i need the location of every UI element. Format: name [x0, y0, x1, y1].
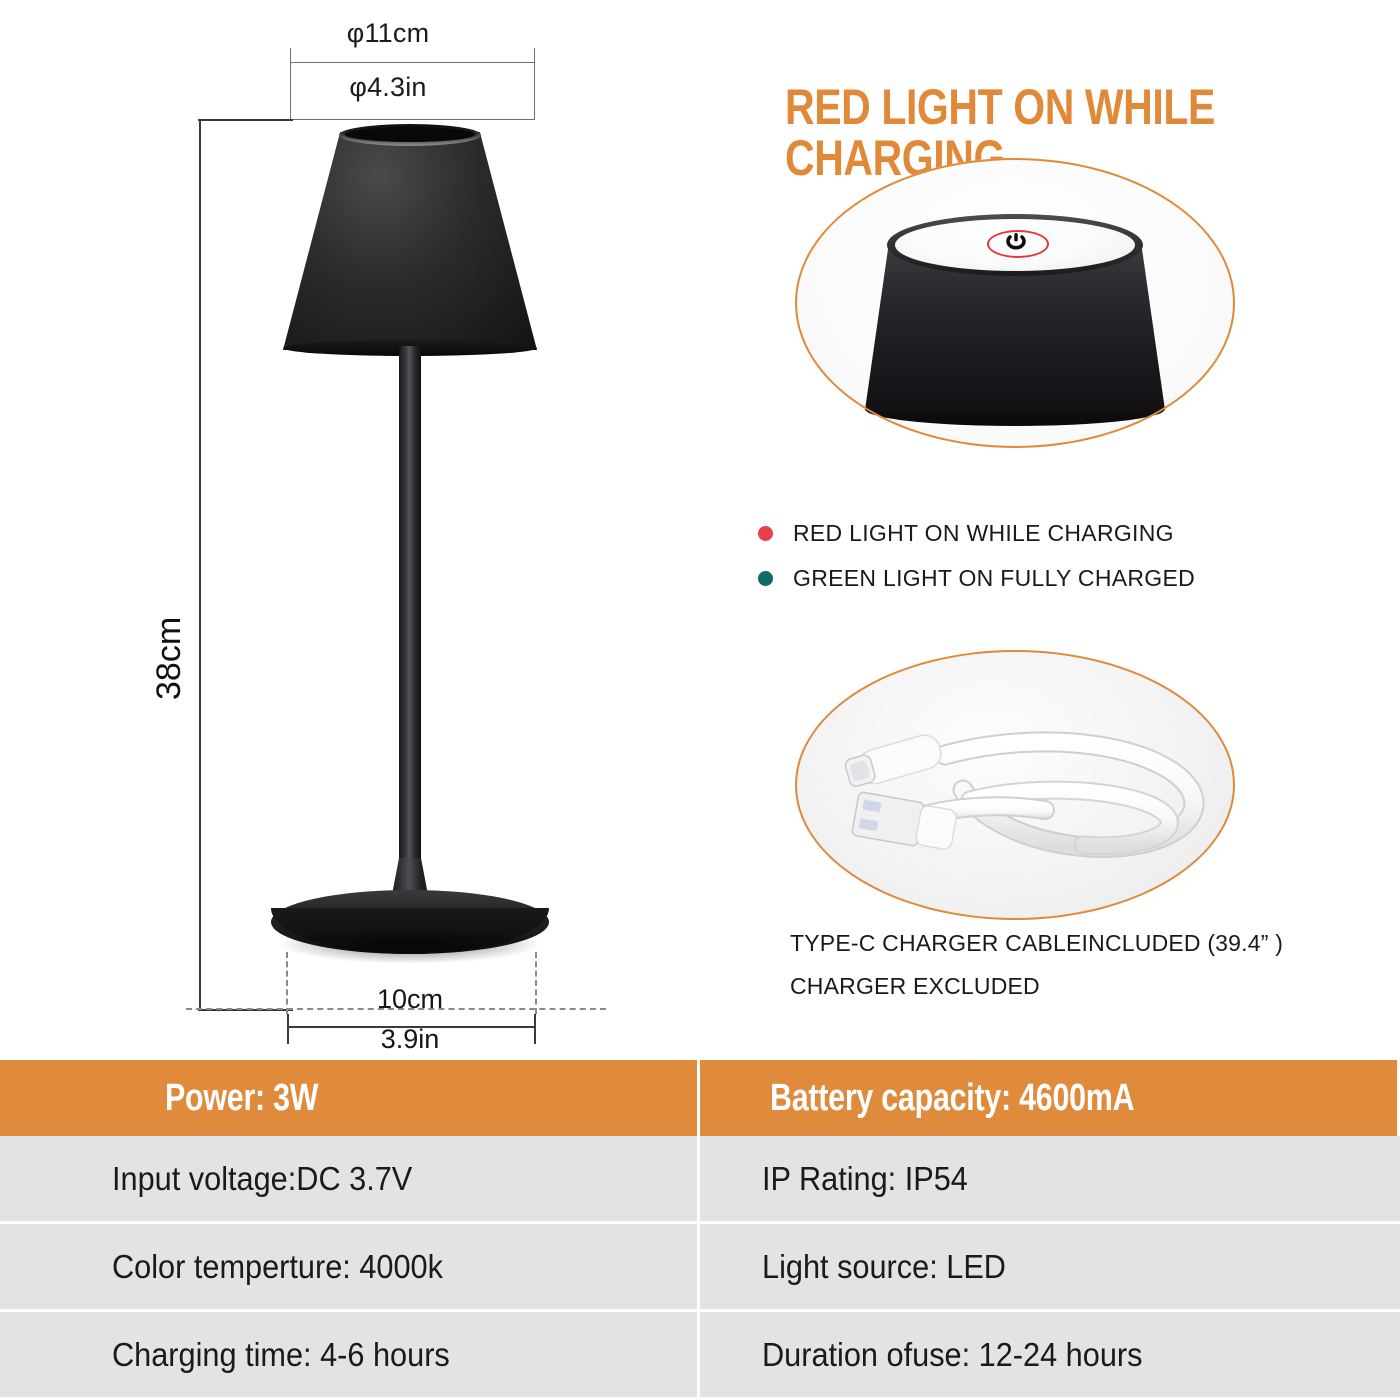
green-led-dot-icon	[758, 571, 773, 586]
lamp-base-shadow	[277, 930, 543, 964]
led-status-list: RED LIGHT ON WHILE CHARGING GREEN LIGHT …	[758, 520, 1378, 610]
height-measure-line	[199, 119, 201, 1011]
cable-caption-line-2: CHARGER EXCLUDED	[790, 973, 1390, 1000]
lamp-shade	[283, 132, 537, 350]
spec-color-temperature: Color temperture: 4000k	[112, 1248, 443, 1286]
spec-charging-time: Charging time: 4-6 hours	[112, 1336, 450, 1374]
top-bracket-tick-right-2	[534, 62, 535, 120]
lamp-base-photo	[795, 158, 1235, 448]
base-photo-oval-frame	[795, 158, 1235, 448]
specification-table: Power: 3W Battery capacity: 4600mA Input…	[0, 1060, 1400, 1400]
red-led-dot-icon	[758, 526, 773, 541]
top-diameter-cm-label: φ11cm	[238, 18, 538, 49]
list-item: GREEN LIGHT ON FULLY CHARGED	[758, 565, 1378, 592]
cable-photo-oval-frame	[795, 650, 1235, 920]
spec-grid: Power: 3W Battery capacity: 4600mA Input…	[0, 1060, 1400, 1400]
table-row: Light source: LED	[700, 1224, 1400, 1312]
charger-cable-photo	[795, 650, 1235, 920]
cable-caption-line-1: TYPE-C CHARGER CABLEINCLUDED (39.4” )	[790, 930, 1390, 957]
lamp-shade-rim-inner	[345, 127, 475, 142]
table-row: IP Rating: IP54	[700, 1136, 1400, 1224]
list-item-label: GREEN LIGHT ON FULLY CHARGED	[793, 565, 1195, 592]
base-width-cm-label: 10cm	[260, 984, 560, 1015]
spec-light-source: Light source: LED	[762, 1248, 1006, 1286]
height-label: 38cm	[150, 617, 189, 700]
list-item-label: RED LIGHT ON WHILE CHARGING	[793, 520, 1174, 547]
spec-header-battery-label: Battery capacity: 4600mA	[770, 1077, 1134, 1120]
cable-caption: TYPE-C CHARGER CABLEINCLUDED (39.4” ) CH…	[790, 930, 1390, 1016]
table-row: Charging time: 4-6 hours	[0, 1312, 700, 1400]
top-bracket-line-1	[290, 62, 535, 63]
base-width-in-label: 3.9in	[260, 1024, 560, 1055]
spec-input-voltage: Input voltage:DC 3.7V	[112, 1160, 412, 1198]
top-bracket-tick-left-2	[290, 62, 291, 120]
spec-header-power-label: Power: 3W	[165, 1077, 318, 1120]
spec-header-power: Power: 3W	[0, 1060, 700, 1136]
spec-ip-rating: IP Rating: IP54	[762, 1160, 968, 1198]
table-row: Color temperture: 4000k	[0, 1224, 700, 1312]
infographic-canvas: φ11cm φ4.3in 38cm	[0, 0, 1400, 1400]
charging-info-panel: RED LIGHT ON WHILE CHARGING	[740, 0, 1400, 1060]
table-row: Input voltage:DC 3.7V	[0, 1136, 700, 1224]
spec-header-battery: Battery capacity: 4600mA	[700, 1060, 1400, 1136]
lamp-illustration	[255, 118, 565, 978]
lamp-pole	[399, 346, 421, 906]
lamp-dimension-panel: φ11cm φ4.3in 38cm	[0, 0, 740, 1060]
top-diameter-in-label: φ4.3in	[238, 72, 538, 103]
spec-duration-of-use: Duration ofuse: 12-24 hours	[762, 1336, 1142, 1374]
list-item: RED LIGHT ON WHILE CHARGING	[758, 520, 1378, 547]
table-row: Duration ofuse: 12-24 hours	[700, 1312, 1400, 1400]
